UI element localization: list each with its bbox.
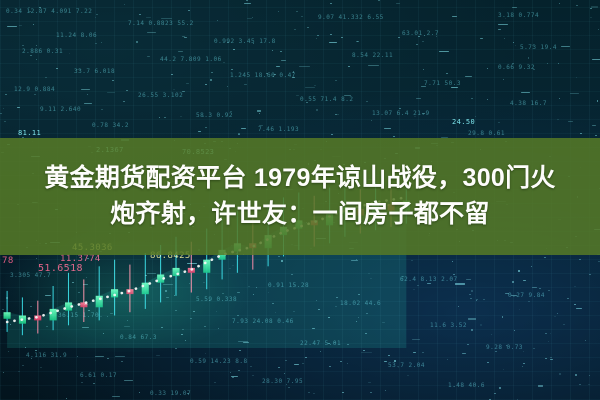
- ticker-text: 7.14 0.8823 55.2: [128, 20, 194, 27]
- ticker-text: 9.28 0.73: [486, 344, 523, 351]
- ticker-text: 0.34 12.87 4.091 7.22: [6, 8, 92, 15]
- ticker-text: 53.7 2.04: [388, 362, 425, 369]
- ticker-text: 7.71 50.3: [424, 80, 461, 87]
- page-title: 黄金期货配资平台 1979年谅山战役，300门火 炮齐射，许世友：一间房子都不留: [44, 161, 555, 232]
- ticker-text: 11.6 3.52: [430, 322, 467, 329]
- ticker-text: 4.116 31.9: [26, 352, 67, 359]
- headline-line-2: 炮齐射，许世友：一间房子都不留: [44, 197, 555, 233]
- ticker-text: 26.55 3.102: [138, 92, 183, 99]
- ticker-text: 9.11 2.640: [40, 106, 81, 113]
- ticker-text: 44.2 7.809 1.06: [160, 56, 222, 63]
- ticker-text: 4.38 16.7: [510, 100, 547, 107]
- ticker-text: 11.24 8.06: [56, 32, 97, 39]
- ticker-text: 9.07 41.332 6.55: [318, 14, 384, 21]
- ticker-text: 1.245 18.60 0.47: [230, 72, 296, 79]
- ticker-text: 28.30 7.95: [262, 378, 303, 385]
- ticker-text: 29.8 0.61: [468, 130, 505, 137]
- ticker-text: 8.54 22.11: [352, 52, 393, 59]
- headline-band: 黄金期货配资平台 1979年谅山战役，300门火 炮齐射，许世友：一间房子都不留: [0, 138, 600, 255]
- thumbnail-canvas: 0.34 12.87 4.091 7.227.14 0.8823 55.29.0…: [0, 0, 600, 400]
- price-readout: 81.11: [18, 129, 41, 137]
- ticker-text: 0.27 9.84: [508, 292, 545, 299]
- ticker-text: 7.46 1.193: [258, 126, 299, 133]
- ticker-text: 63.01 2.7: [402, 30, 439, 37]
- price-readout: 78: [2, 256, 14, 266]
- ticker-text: 0.992 3.45 17.8: [214, 38, 276, 45]
- ticker-text: 33.7 6.018: [74, 68, 115, 75]
- ticker-text: 0.59 14.23 8.8: [190, 358, 248, 365]
- price-readout: 51.6518: [38, 263, 83, 274]
- ticker-text: 1.48 40.6: [448, 382, 485, 389]
- ticker-text: 58.3 0.92: [196, 112, 233, 119]
- ticker-text: 0.78 34.2: [92, 122, 129, 129]
- ticker-text: 13.07 6.4 21.9: [372, 110, 430, 117]
- ticker-text: 0.55 71.4 8.2: [300, 96, 353, 103]
- ticker-text: 0.66 9.32: [498, 64, 535, 71]
- ticker-text: 3.18 0.774: [498, 12, 539, 19]
- ticker-text: 0.33 19.07: [150, 390, 191, 397]
- ticker-text: 12.9 0.884: [14, 86, 55, 93]
- headline-line-1: 黄金期货配资平台 1979年谅山战役，300门火: [44, 161, 555, 197]
- ticker-text: 6.61 0.17: [80, 372, 117, 379]
- ticker-text: 2.886 0.31: [22, 48, 63, 55]
- ticker-text: 5.73 19.4: [520, 44, 557, 51]
- price-readout: 24.50: [452, 118, 475, 126]
